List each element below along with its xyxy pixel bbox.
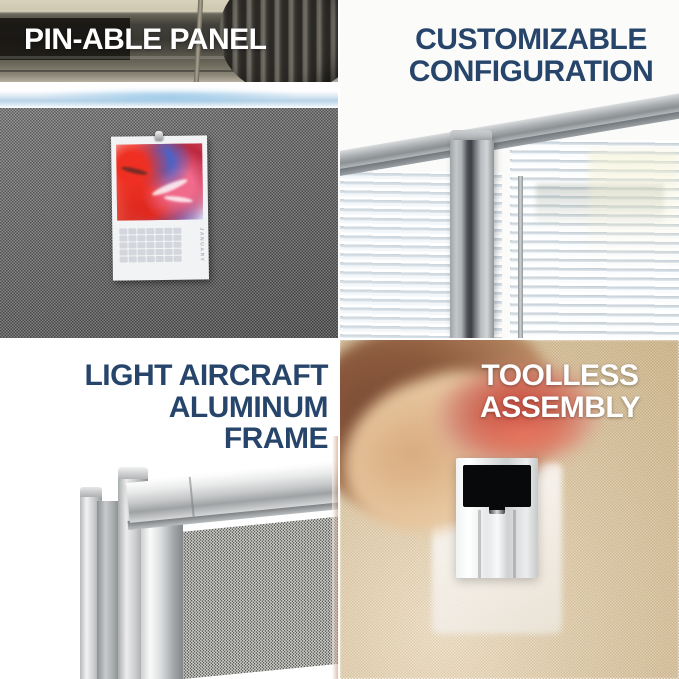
post-cap xyxy=(118,467,148,479)
aluminum-extrusion-profile xyxy=(456,458,538,578)
post-cap xyxy=(80,487,102,497)
panel-pin-able-panel: JANUARY PIN-ABLE PANEL xyxy=(0,0,338,338)
panel-light-aircraft-aluminum-frame: LIGHT AIRCRAFT ALUMINUM FRAME xyxy=(0,340,338,679)
panel-fabric-infill xyxy=(182,517,338,679)
extrusion-highlight xyxy=(486,510,508,578)
calendar-month-label: JANUARY xyxy=(198,227,204,262)
ceiling-dark-recess xyxy=(0,18,130,60)
vertical-connector-post xyxy=(450,140,494,338)
panel-toolless-assembly: TOOLLESS ASSEMBLY xyxy=(340,340,679,679)
panel-customizable-configuration: CUSTOMIZABLE CONFIGURATION xyxy=(340,0,679,338)
artwork-stroke xyxy=(151,176,189,197)
ceiling-duct xyxy=(214,0,338,82)
aluminum-frame-photo xyxy=(0,340,338,679)
extrusion-web xyxy=(513,510,516,578)
toolless-assembly-photo xyxy=(340,340,679,679)
light-glow xyxy=(41,90,298,104)
ceiling-light-strip xyxy=(0,82,338,108)
photo-right-edge xyxy=(332,436,338,679)
frame-corner-stile xyxy=(141,518,183,679)
artwork-stroke xyxy=(121,166,147,176)
extrusion-web xyxy=(478,510,481,578)
push-pin-icon xyxy=(155,131,163,140)
finger-backlight-glow xyxy=(460,412,588,460)
calendar-artwork xyxy=(116,143,203,220)
pinned-calendar: JANUARY xyxy=(111,135,209,280)
calendar-date-grid xyxy=(119,228,182,271)
feature-collage: JANUARY PIN-ABLE PANEL CUSTOMIZABLE CONF… xyxy=(0,0,679,679)
extrusion-channel-slot xyxy=(463,465,531,507)
rail-seam xyxy=(189,477,195,517)
outside-daylight-blur xyxy=(589,150,679,270)
glass-mullion xyxy=(518,176,523,338)
artwork-stroke xyxy=(164,195,194,204)
ceiling-photo xyxy=(0,0,338,82)
glass-partition-photo xyxy=(340,0,679,338)
